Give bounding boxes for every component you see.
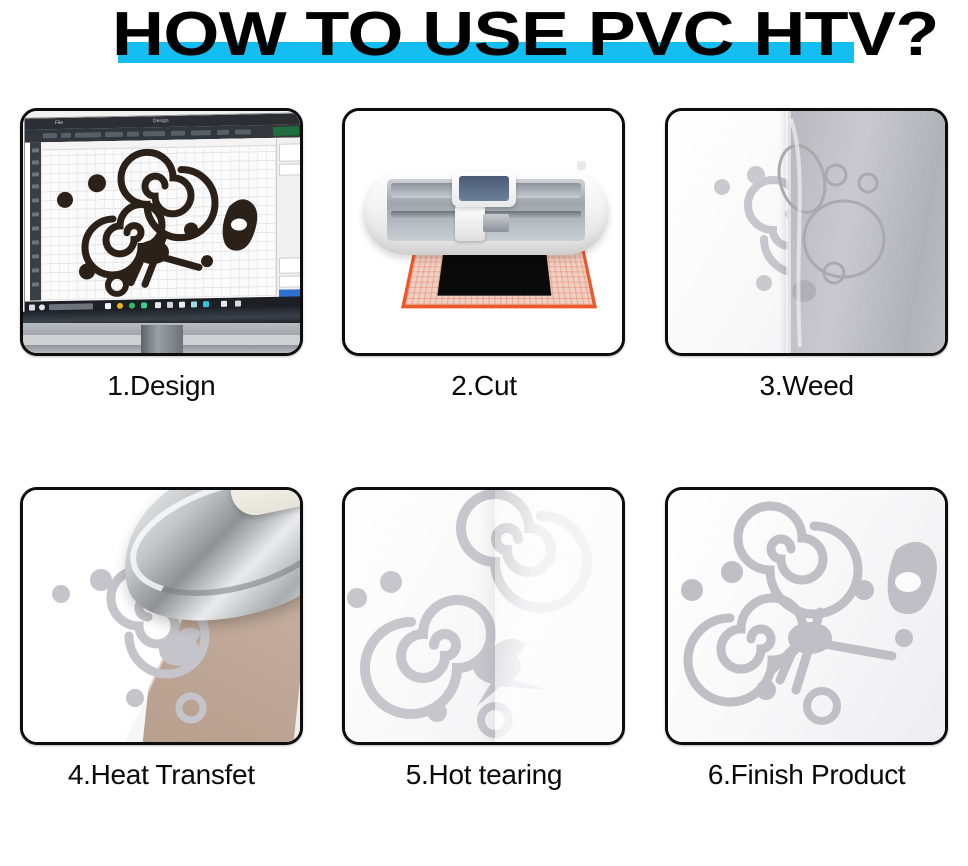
toolbar-action-button bbox=[273, 126, 299, 135]
design-artwork bbox=[41, 138, 277, 305]
step-card-5: 5.Hot tearing bbox=[323, 487, 646, 866]
step-3-photo bbox=[665, 108, 948, 356]
monitor-stand-neck bbox=[141, 325, 183, 355]
machine-cutting-head bbox=[483, 214, 509, 232]
tool-palette bbox=[30, 142, 41, 300]
monitor-illustration: File Design bbox=[23, 111, 300, 353]
page-header: HOW TO USE PVC HTV? bbox=[0, 0, 968, 108]
step-1-caption: 1.Design bbox=[107, 370, 215, 402]
weed-overlay-detail bbox=[668, 111, 945, 353]
step-4-photo bbox=[20, 487, 303, 745]
step-6-photo bbox=[665, 487, 948, 745]
weed-scene bbox=[668, 111, 945, 353]
machine-knob bbox=[577, 161, 586, 170]
carrier-sheet-being-peeled bbox=[495, 487, 625, 745]
monitor-screen: File Design bbox=[24, 112, 303, 315]
step-card-1: File Design bbox=[0, 108, 323, 487]
step-2-caption: 2.Cut bbox=[451, 370, 516, 402]
machine-carriage bbox=[455, 205, 485, 241]
design-canvas bbox=[41, 138, 277, 301]
step-2-photo bbox=[342, 108, 625, 356]
step-card-4: 4.Heat Transfet bbox=[0, 487, 323, 866]
finished-design-artwork bbox=[668, 490, 945, 742]
step-card-2: 2.Cut bbox=[323, 108, 646, 487]
step-6-caption: 6.Finish Product bbox=[708, 759, 906, 791]
heat-press-scene bbox=[23, 490, 300, 742]
step-card-3: 3.Weed bbox=[645, 108, 968, 487]
titlebar-file-label: File bbox=[55, 120, 63, 126]
page-title: HOW TO USE PVC HTV? bbox=[112, 0, 968, 74]
step-card-6: 6.Finish Product bbox=[645, 487, 968, 866]
cutting-machine-illustration bbox=[345, 111, 622, 353]
properties-panel bbox=[276, 137, 303, 296]
step-5-caption: 5.Hot tearing bbox=[406, 759, 562, 791]
step-1-photo: File Design bbox=[20, 108, 303, 356]
hot-tearing-scene bbox=[345, 490, 622, 742]
machine-touchscreen bbox=[459, 176, 509, 201]
finished-product-scene bbox=[668, 490, 945, 742]
step-3-caption: 3.Weed bbox=[760, 370, 854, 402]
steps-grid: File Design bbox=[0, 108, 968, 866]
titlebar-document-label: Design bbox=[153, 118, 169, 124]
step-5-photo bbox=[342, 487, 625, 745]
step-4-caption: 4.Heat Transfet bbox=[68, 759, 255, 791]
